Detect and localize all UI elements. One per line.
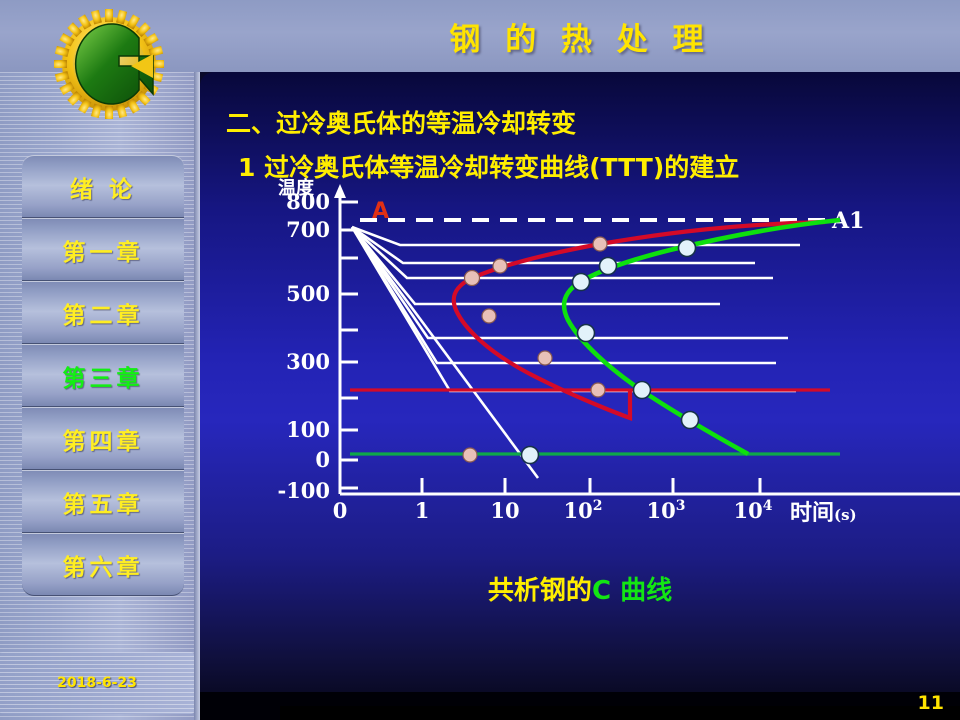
sidebar-item-2[interactable]: 第二章 [22, 281, 184, 344]
a1-dashed-line: A1 [360, 208, 864, 234]
chart-caption: 共析钢的C 曲线 [200, 570, 960, 607]
caption-yellow-part: 共析钢的 [488, 576, 592, 606]
sidebar-item-label: 第五章 [63, 485, 144, 519]
sidebar-item-label: 第一章 [63, 233, 144, 267]
sidebar-item-label: 第四章 [63, 422, 144, 456]
x-tick-10: 10 [490, 498, 519, 523]
y-tick-700: 700 [286, 217, 330, 242]
slide-root: 钢 的 热 处 理 绪 论 第一章 第二章 第三章 第四章 第五章 第六章 20… [0, 0, 960, 720]
cooling-hold-lines [352, 227, 800, 478]
sidebar-item-label: 第三章 [63, 359, 144, 393]
sidebar-item-6[interactable]: 第六章 [22, 533, 184, 596]
sidebar-item-0[interactable]: 绪 论 [22, 155, 184, 218]
y-tick-100: 100 [286, 417, 330, 442]
sidebar-item-5[interactable]: 第五章 [22, 470, 184, 533]
y-tick--100: -100 [277, 478, 330, 503]
chart-axes: 800 700 500 300 100 0 -100 0 1 10 102 [277, 184, 960, 526]
caption-green-part: C 曲线 [592, 576, 672, 606]
y-tick-500: 500 [286, 281, 330, 306]
y-tick-800: 800 [286, 189, 330, 214]
sidebar-item-label: 绪 论 [70, 170, 136, 204]
ttt-curve-chart: 温度 800 [200, 178, 960, 578]
x-tick-1e4: 104 [734, 498, 773, 523]
x-tick-1e3: 103 [647, 498, 686, 523]
x-tick-0: 0 [333, 498, 348, 523]
gear-g-logo-icon [48, 6, 170, 128]
start-curve-markers [463, 237, 607, 462]
y-tick-0: 0 [315, 447, 330, 472]
date-text: 2018-6-23 [57, 675, 137, 691]
x-tick-1e2: 102 [564, 498, 603, 523]
page-title: 钢 的 热 处 理 [449, 14, 710, 59]
sidebar-item-1[interactable]: 第一章 [22, 218, 184, 281]
bottom-strip-inner [280, 706, 960, 720]
x-tick-1: 1 [415, 498, 430, 523]
sidebar-item-4[interactable]: 第四章 [22, 407, 184, 470]
austenite-label-A: A [372, 199, 389, 224]
y-tick-300: 300 [286, 349, 330, 374]
sidebar-nav: 绪 论 第一章 第二章 第三章 第四章 第五章 第六章 [22, 155, 184, 596]
sidebar-item-3[interactable]: 第三章 [22, 344, 184, 407]
date-badge: 2018-6-23 [0, 652, 194, 714]
sidebar-item-label: 第二章 [63, 296, 144, 330]
slide-title-banner: 钢 的 热 处 理 [200, 0, 960, 72]
page-number: 11 [918, 692, 944, 714]
x-axis-title: 时间(s) [790, 500, 857, 526]
content-panel: 二、过冷奥氏体的等温冷却转变 1 过冷奥氏体等温冷却转变曲线(TTT)的建立 温… [200, 72, 960, 692]
sidebar-item-label: 第六章 [63, 548, 144, 582]
heading-section: 二、过冷奥氏体的等温冷却转变 [226, 104, 576, 140]
